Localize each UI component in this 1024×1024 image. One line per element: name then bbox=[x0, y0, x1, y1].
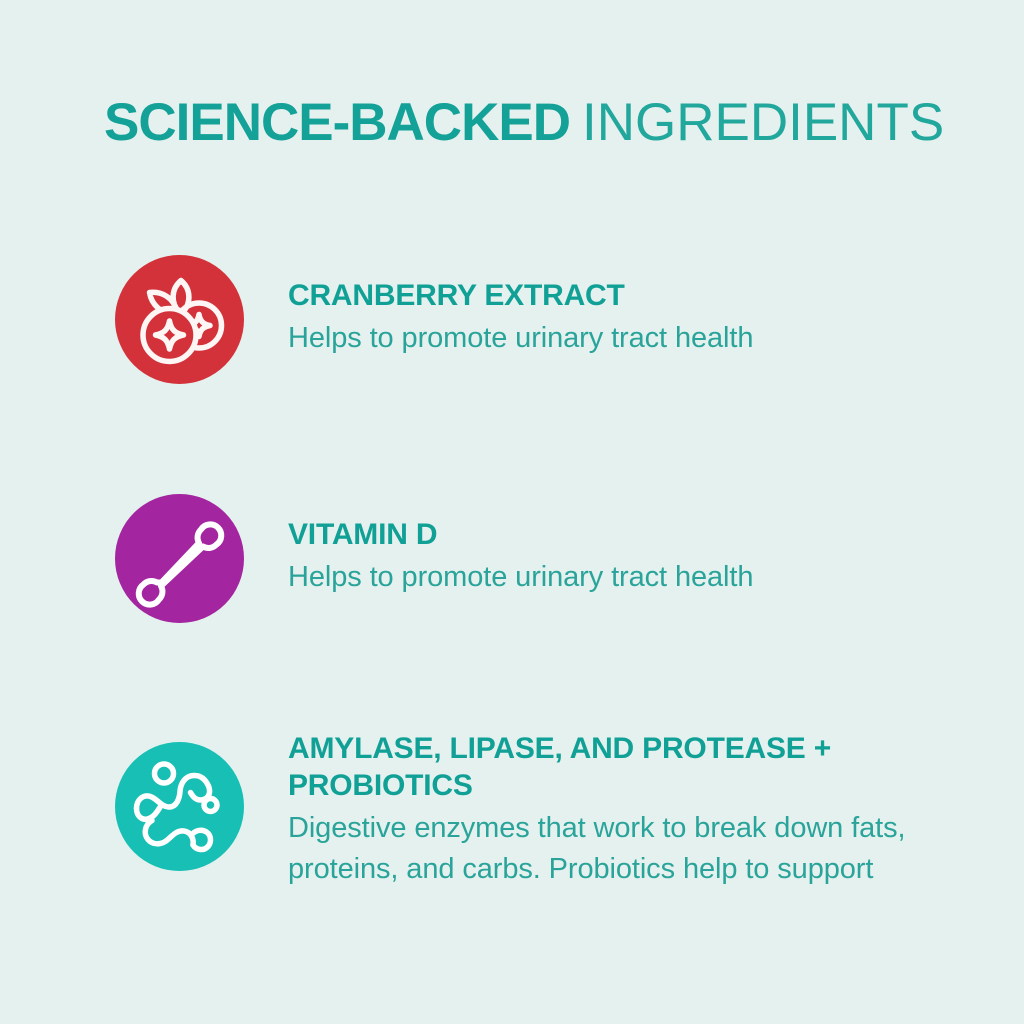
page-title-emphasis: SCIENCE-BACKED bbox=[104, 93, 570, 152]
ingredient-description: Helps to promote urinary tract health bbox=[288, 557, 988, 598]
probiotics-badge bbox=[115, 742, 244, 871]
vitamin-d-text: VITAMIN D Helps to promote urinary tract… bbox=[288, 516, 988, 598]
ingredient-description: Helps to promote urinary tract health bbox=[288, 318, 988, 359]
cranberry-badge bbox=[115, 255, 244, 384]
probiotics-icon bbox=[115, 742, 244, 871]
ingredient-title: AMYLASE, LIPASE, AND PROTEASE + PROBIOTI… bbox=[288, 730, 908, 804]
page-title-light: INGREDIENTS bbox=[582, 93, 944, 152]
bone-icon bbox=[115, 494, 244, 623]
vitamin-d-badge bbox=[115, 494, 244, 623]
ingredient-title: CRANBERRY EXTRACT bbox=[288, 277, 988, 314]
cranberry-text: CRANBERRY EXTRACT Helps to promote urina… bbox=[288, 277, 988, 359]
probiotics-text: AMYLASE, LIPASE, AND PROTEASE + PROBIOTI… bbox=[288, 730, 988, 890]
page-title: SCIENCE-BACKEDINGREDIENTS bbox=[104, 92, 964, 154]
cranberry-icon bbox=[115, 255, 244, 384]
ingredients-infographic: SCIENCE-BACKEDINGREDIENTS bbox=[0, 0, 1024, 1024]
ingredient-title: VITAMIN D bbox=[288, 516, 988, 553]
ingredient-description: Digestive enzymes that work to break dow… bbox=[288, 808, 978, 890]
